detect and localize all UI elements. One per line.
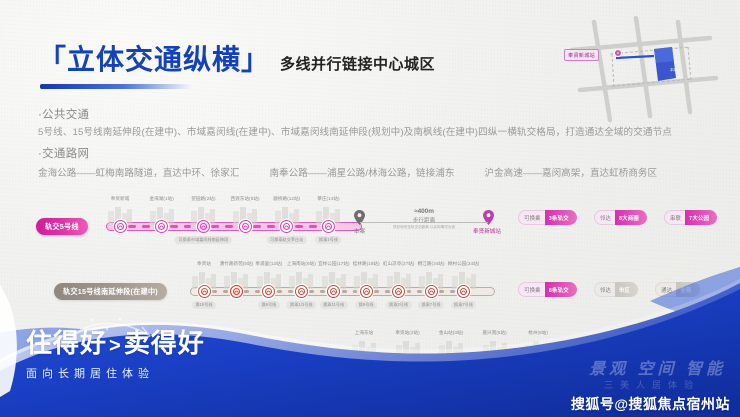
minimap-station-dot-icon xyxy=(614,49,622,57)
metro-station-node[interactable] xyxy=(239,220,252,233)
metro-station-label: 金海湖(1站) xyxy=(150,196,174,202)
metro-station-label: 颛桥路(12站) xyxy=(273,196,300,202)
metro-station-label: 奉贤新城 xyxy=(111,196,130,202)
metro-interchange-chip: 换乘1号线 xyxy=(315,236,341,244)
metro-station-label: 莘庄(14站) xyxy=(317,196,339,202)
svg-text:本案: 本案 xyxy=(670,67,677,72)
watermark-label: 搜狐号@搜狐焦点宿州站 xyxy=(571,394,730,414)
origin-pin-label: 本案 xyxy=(354,227,365,235)
road-list: 金海公路——虹梅南路隧道，直达中环、徐家汇 南奉公路——浦星公路/林海公路，链接… xyxy=(38,165,728,179)
walk-distance-note: 项目地块至轨交站距离 以实际情况为准 xyxy=(393,225,455,230)
feature-tag-value: 7大公园 xyxy=(685,210,717,225)
road-item: 金海公路——虹梅南路隧道，直达中环、徐家汇 xyxy=(38,165,239,179)
footer-ghost-words-secondary: 三美人居体验 xyxy=(604,378,700,391)
slogan-part-a: 住 xyxy=(26,328,53,358)
metro-station-node[interactable] xyxy=(197,220,210,233)
road-item: 沪金高速——嘉闵高架，直达虹桥商务区 xyxy=(484,165,657,179)
slogan-part-b: 得好 xyxy=(53,328,107,358)
destination-pin-label: 奉贤新城站 xyxy=(473,227,501,235)
title-underline-rule xyxy=(40,84,192,89)
location-minimap: 本案 奉贤新城站 xyxy=(550,16,728,128)
feature-tag-key: 可换乘 xyxy=(518,210,545,225)
road-item: 南奉公路——浦星公路/林海公路，链接浦东 xyxy=(269,165,454,179)
road-network-heading: ·交通路网 xyxy=(38,145,728,161)
feature-tag[interactable]: 邻达8大商圈 xyxy=(594,210,647,225)
feature-tag[interactable]: 可换乘3条轨交 xyxy=(518,210,577,225)
feature-tag[interactable]: 串联7大公园 xyxy=(664,210,717,225)
footer-slogan-main: 住得好>卖得好 xyxy=(26,323,205,360)
feature-tag-key: 串联 xyxy=(664,210,685,225)
slogan-part-c: 卖得好 xyxy=(124,328,205,358)
metro-station-node[interactable] xyxy=(322,220,335,233)
metro-station-label: 望园路(2站) xyxy=(191,196,215,202)
metro-station-label: 西渡东站(5站) xyxy=(231,196,260,202)
walk-distance-caption: 步行距离 xyxy=(413,216,435,224)
page-title: 「立体交通纵横」 xyxy=(38,38,270,78)
line-5-name-pill[interactable]: 轨交5号线 xyxy=(36,218,88,235)
metro-station-node[interactable] xyxy=(114,220,127,233)
page-subtitle: 多线并行链接中心城区 xyxy=(280,53,435,74)
page-header: 「立体交通纵横」 多线并行链接中心城区 xyxy=(38,38,435,78)
footer-slogan-block: 住得好>卖得好 面向长期居住体验 xyxy=(26,323,205,381)
public-transit-text: 5号线、15号线南延伸段(在建中)、市域嘉闵线(在建中)、市域嘉闵线南延伸段(规… xyxy=(38,126,728,140)
walk-distance-value: ≈400m xyxy=(414,208,434,215)
metro-station-node[interactable] xyxy=(280,220,293,233)
feature-tag-value: 3条轨交 xyxy=(545,210,577,225)
slogan-gt-icon: > xyxy=(107,335,124,357)
footer-ghost-words: 景观 空间 智能 xyxy=(589,355,726,379)
minimap-station-tag: 奉贤新城站 xyxy=(564,49,599,61)
metro-interchange-chip: 可换乘轨交莘庄站 xyxy=(267,236,307,244)
minimap-graphic: 本案 xyxy=(550,16,728,128)
metro-station-node[interactable] xyxy=(155,220,168,233)
footer-slogan-sub: 面向长期居住体验 xyxy=(26,365,205,381)
feature-tag-key: 邻达 xyxy=(594,210,615,225)
line-5-tag-row: 可换乘3条轨交邻达8大商圈串联7大公园 xyxy=(518,210,717,225)
metro-interchange-chip: 可换乘市域嘉闵线南延伸段 xyxy=(175,236,232,244)
feature-tag-value: 8大商圈 xyxy=(615,210,647,225)
walk-distance-widget: 本案 奉贤新城站 ≈400m 步行距离 项目地块至轨交站距离 以实际情况为准 xyxy=(348,208,500,258)
slide-root: 「立体交通纵横」 多线并行链接中心城区 ·公共交通 5号线、15号线南延伸段(在… xyxy=(0,0,740,417)
